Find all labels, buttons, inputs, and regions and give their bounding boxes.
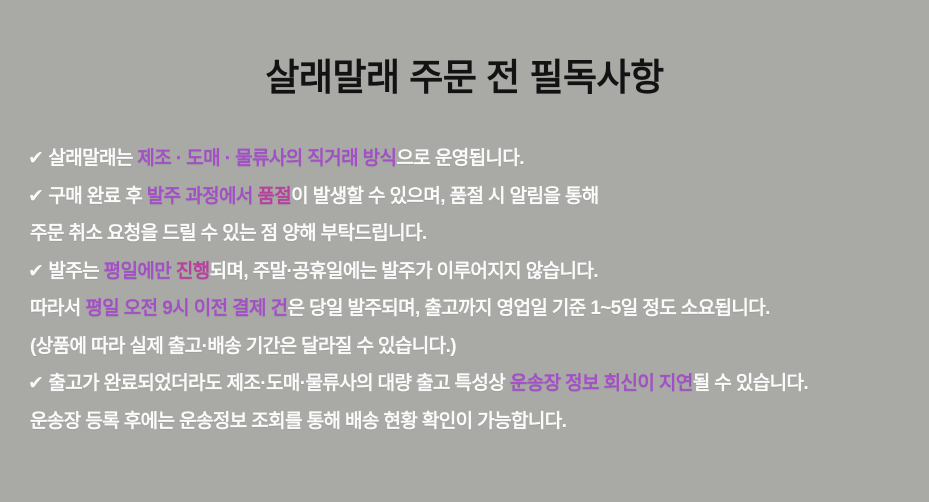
notice-text-segment: 운송장 정보 회신이 지연: [510, 373, 693, 394]
notice-bullet-line: ✔출고가 완료되었더라도 제조·도매·물류사의 대량 출고 특성상 운송장 정보…: [28, 365, 923, 403]
notice-text-segment: 구매 완료 후: [48, 186, 146, 207]
notice-continuation-line: 운송장 등록 후에는 운송정보 조회를 통해 배송 현황 확인이 가능합니다.: [30, 403, 923, 441]
notice-text-segment: 살래말래는: [48, 148, 137, 169]
notice-body: ✔살래말래는 제조 · 도매 · 물류사의 직거래 방식으로 운영됩니다.✔구매…: [28, 140, 923, 440]
notice-card: 살래말래 주문 전 필독사항 ✔살래말래는 제조 · 도매 · 물류사의 직거래…: [0, 0, 929, 502]
notice-text-segment: 될 수 있습니다.: [693, 373, 808, 394]
check-icon: ✔: [28, 253, 43, 291]
notice-continuation-line: (상품에 따라 실제 출고·배송 기간은 달라질 수 있습니다.): [30, 328, 923, 366]
notice-text-segment: 품절: [257, 186, 291, 207]
notice-text-segment: 운송장 등록 후에는 운송정보 조회를 통해 배송 현황 확인이 가능합니다.: [30, 411, 566, 432]
notice-bullet-line: ✔살래말래는 제조 · 도매 · 물류사의 직거래 방식으로 운영됩니다.: [28, 140, 923, 178]
check-icon: ✔: [28, 365, 43, 403]
check-icon: ✔: [28, 140, 43, 178]
notice-text-segment: 은 당일 발주되며, 출고까지 영업일 기준 1~5일 정도 소요됩니다.: [288, 298, 770, 319]
notice-text-segment: 으로 운영됩니다.: [396, 148, 524, 169]
page-title: 살래말래 주문 전 필독사항: [0, 56, 929, 100]
notice-text-segment: 주문 취소 요청을 드릴 수 있는 점 양해 부탁드립니다.: [30, 223, 427, 244]
notice-text-segment: 되며, 주말·공휴일에는 발주가 이루어지지 않습니다.: [210, 261, 598, 282]
notice-text-segment: 이 발생할 수 있으며, 품절 시 알림을 통해: [291, 186, 599, 207]
notice-bullet-line: ✔발주는 평일에만 진행되며, 주말·공휴일에는 발주가 이루어지지 않습니다.: [28, 253, 923, 291]
notice-text-segment: 발주 과정에서: [147, 186, 258, 207]
notice-text-segment: (상품에 따라 실제 출고·배송 기간은 달라질 수 있습니다.): [30, 336, 456, 357]
notice-text-segment: 진행: [176, 261, 210, 282]
check-icon: ✔: [28, 178, 43, 216]
notice-text-segment: 따라서: [30, 298, 85, 319]
notice-text-segment: 발주는: [48, 261, 103, 282]
notice-continuation-line: 주문 취소 요청을 드릴 수 있는 점 양해 부탁드립니다.: [30, 215, 923, 253]
notice-text-segment: 평일 오전 9시 이전 결제 건: [85, 298, 287, 319]
notice-text-segment: 출고가 완료되었더라도 제조·도매·물류사의 대량 출고 특성상: [48, 373, 510, 394]
notice-bullet-line: ✔구매 완료 후 발주 과정에서 품절이 발생할 수 있으며, 품절 시 알림을…: [28, 178, 923, 216]
notice-text-segment: 제조 · 도매 · 물류사의 직거래 방식: [137, 148, 396, 169]
notice-text-segment: 평일에만: [104, 261, 176, 282]
notice-continuation-line: 따라서 평일 오전 9시 이전 결제 건은 당일 발주되며, 출고까지 영업일 …: [30, 290, 923, 328]
